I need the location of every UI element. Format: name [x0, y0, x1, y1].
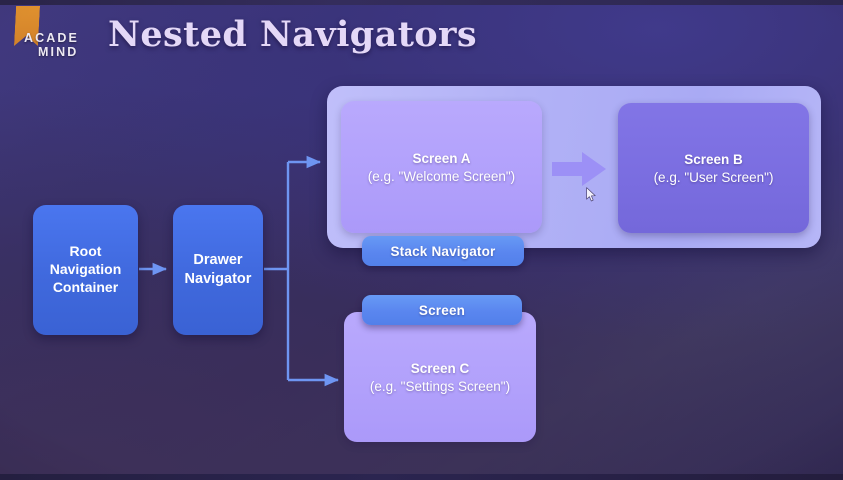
node-screen-c-subtitle: (e.g. "Settings Screen") [370, 379, 510, 394]
node-screen-a-text: Screen A (e.g. "Welcome Screen") [368, 151, 515, 184]
badge-stack-navigator[interactable]: Stack Navigator [362, 236, 524, 266]
node-screen-b-subtitle: (e.g. "User Screen") [654, 170, 774, 185]
node-screen-c[interactable]: Screen C (e.g. "Settings Screen") [344, 312, 536, 442]
node-screen-c-text: Screen C (e.g. "Settings Screen") [370, 361, 510, 394]
node-screen-a-title: Screen A [368, 151, 515, 166]
logo-line-2: MIND [8, 45, 98, 59]
mouse-pointer-icon [586, 187, 597, 202]
logo-line-1: ACADE [8, 31, 98, 45]
node-screen-a[interactable]: Screen A (e.g. "Welcome Screen") [341, 101, 542, 233]
node-screen-b-text: Screen B (e.g. "User Screen") [654, 152, 774, 185]
academind-logo: ACADE MIND [8, 6, 98, 62]
badge-screen[interactable]: Screen [362, 295, 522, 325]
node-screen-b-title: Screen B [654, 152, 774, 167]
node-root-navigation-container[interactable]: Root Navigation Container [33, 205, 138, 335]
page-title: Nested Navigators [108, 14, 477, 55]
slide-canvas: ACADE MIND Nested Navigators Root Naviga… [0, 0, 843, 480]
node-screen-c-title: Screen C [370, 361, 510, 376]
logo-wordmark: ACADE MIND [8, 31, 98, 59]
screen-bottom-edge [0, 474, 843, 480]
screen-top-edge [0, 0, 843, 5]
node-root-navigation-container-label: Root Navigation Container [50, 243, 122, 297]
node-drawer-navigator[interactable]: Drawer Navigator [173, 205, 263, 335]
transition-arrow-icon [552, 150, 608, 188]
node-screen-b[interactable]: Screen B (e.g. "User Screen") [618, 103, 809, 233]
node-screen-a-subtitle: (e.g. "Welcome Screen") [368, 169, 515, 184]
node-drawer-navigator-label: Drawer Navigator [185, 251, 252, 288]
